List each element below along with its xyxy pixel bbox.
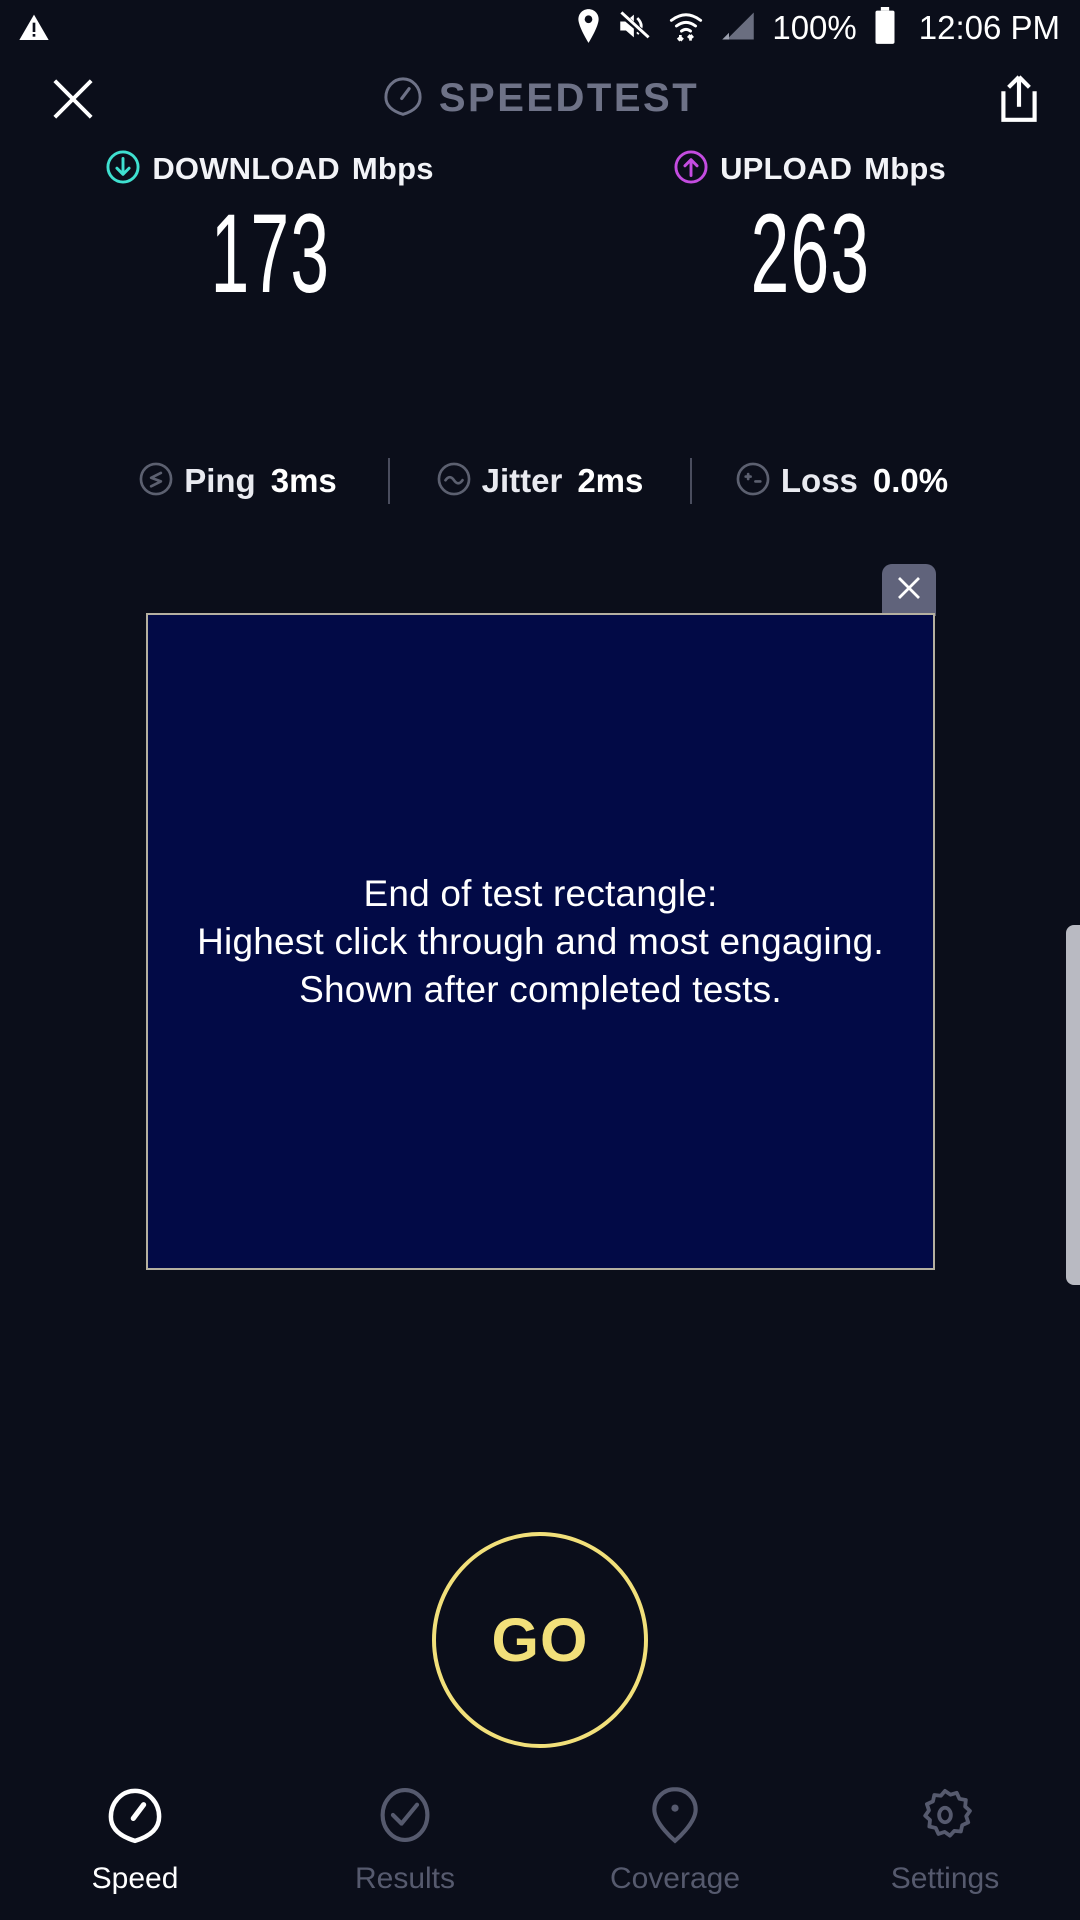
jitter-label: Jitter (482, 462, 563, 500)
nav-label-results: Results (355, 1862, 455, 1896)
advertisement-banner[interactable]: End of test rectangle: Highest click thr… (146, 613, 935, 1270)
speedtest-app-screen: 100% 12:06 PM (0, 0, 1080, 1920)
download-label-row: DOWNLOAD Mbps (106, 146, 433, 192)
ping-jitter-loss-row: Ping 3ms Jitter 2ms (0, 451, 1080, 511)
ad-close-button[interactable] (882, 564, 936, 616)
battery-percent-label: 100% (772, 9, 856, 47)
ad-close-x-icon (894, 573, 924, 608)
brand-title: SPEEDTEST (439, 76, 699, 121)
download-value: 173 (210, 198, 330, 310)
nav-item-speed[interactable]: Speed (0, 1782, 270, 1896)
loss-icon (736, 462, 770, 501)
location-pin-icon (575, 9, 602, 48)
download-label: DOWNLOAD (152, 151, 340, 187)
go-button[interactable]: GO (432, 1532, 648, 1748)
battery-full-icon (873, 7, 897, 50)
go-button-label: GO (492, 1605, 589, 1675)
download-metric: DOWNLOAD Mbps 173 (0, 146, 540, 310)
results-summary: DOWNLOAD Mbps 173 UPLOAD Mbps 263 (0, 146, 1080, 310)
jitter-icon (437, 462, 471, 501)
nav-item-coverage[interactable]: Coverage (540, 1782, 810, 1896)
ping-icon (139, 462, 173, 501)
upload-label-row: UPLOAD Mbps (674, 146, 946, 192)
ad-line-2: Highest click through and most engaging. (197, 918, 884, 966)
arrow-up-circle-icon (674, 150, 708, 189)
nav-label-coverage: Coverage (610, 1862, 740, 1896)
speedometer-icon (104, 1782, 166, 1848)
ad-text-block: End of test rectangle: Highest click thr… (197, 870, 884, 1014)
jitter-stat: Jitter 2ms (390, 462, 690, 501)
share-button[interactable] (988, 70, 1050, 132)
nav-item-results[interactable]: Results (270, 1782, 540, 1896)
status-bar: 100% 12:06 PM (0, 0, 1080, 56)
bottom-navigation-bar: Speed Results Coverage (0, 1768, 1080, 1920)
ad-line-3: Shown after completed tests. (197, 966, 884, 1014)
ping-value: 3ms (271, 462, 337, 500)
status-bar-right-cluster: 100% 12:06 PM (575, 0, 1060, 56)
loss-label: Loss (781, 462, 858, 500)
upload-label: UPLOAD (720, 151, 852, 187)
download-unit: Mbps (352, 151, 434, 187)
loss-stat: Loss 0.0% (692, 462, 992, 501)
upload-unit: Mbps (864, 151, 946, 187)
nav-label-settings: Settings (891, 1862, 999, 1896)
volume-muted-icon (618, 11, 652, 46)
speedometer-icon (381, 74, 425, 123)
location-pin-icon (644, 1782, 706, 1848)
nav-item-settings[interactable]: Settings (810, 1782, 1080, 1896)
arrow-down-circle-icon (106, 150, 140, 189)
loss-value: 0.0% (873, 462, 948, 500)
ping-label: Ping (184, 462, 256, 500)
clock-label: 12:06 PM (919, 9, 1060, 47)
nav-label-speed: Speed (92, 1862, 179, 1896)
upload-metric: UPLOAD Mbps 263 (540, 146, 1080, 310)
gear-icon (914, 1782, 976, 1848)
share-upload-icon (996, 73, 1042, 130)
ping-stat: Ping 3ms (88, 462, 388, 501)
upload-value: 263 (750, 198, 870, 310)
ad-line-1: End of test rectangle: (197, 870, 884, 918)
brand-logo: SPEEDTEST (0, 74, 1080, 123)
jitter-value: 2ms (577, 462, 643, 500)
cellular-signal-icon (720, 10, 756, 47)
download-upload-row: DOWNLOAD Mbps 173 UPLOAD Mbps 263 (0, 146, 1080, 310)
app-header: SPEEDTEST (0, 56, 1080, 146)
check-circle-icon (374, 1782, 436, 1848)
wifi-icon (668, 8, 704, 49)
warning-triangle-icon (18, 12, 50, 49)
page-scrollbar-thumb[interactable] (1066, 925, 1080, 1285)
